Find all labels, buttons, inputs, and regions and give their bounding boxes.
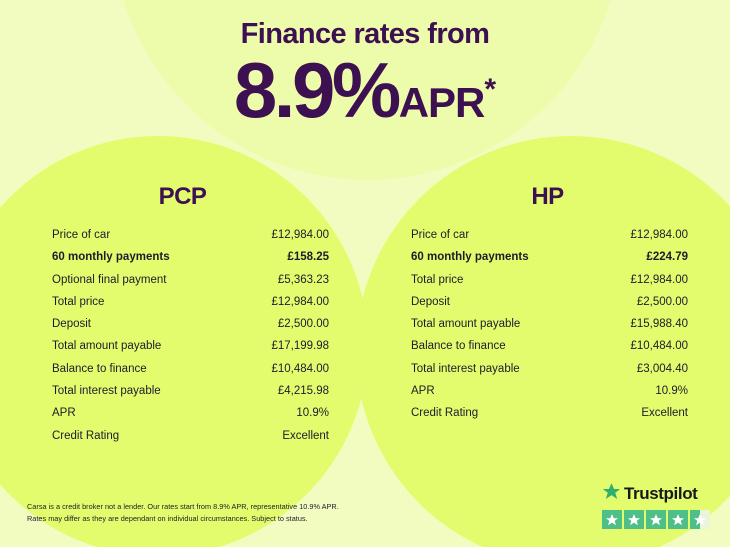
table-row: Credit RatingExcellent	[411, 402, 688, 424]
row-label: Total interest payable	[52, 380, 161, 402]
row-value: £224.79	[646, 246, 688, 268]
row-value: £12,984.00	[271, 291, 329, 313]
trustpilot-star-box	[602, 510, 622, 529]
row-label: Credit Rating	[52, 425, 119, 447]
plan-rows-pcp: Price of car£12,984.0060 monthly payment…	[0, 224, 365, 447]
row-label: Total price	[411, 269, 463, 291]
row-label: APR	[411, 380, 435, 402]
trustpilot-star-box	[690, 510, 710, 529]
table-row: Total amount payable£17,199.98	[52, 335, 329, 357]
row-label: Balance to finance	[52, 358, 147, 380]
star-icon	[627, 513, 641, 527]
table-row: Total price£12,984.00	[411, 269, 688, 291]
trustpilot-star-box	[624, 510, 644, 529]
row-label: Total price	[52, 291, 104, 313]
row-label: Balance to finance	[411, 335, 506, 357]
row-label: 60 monthly payments	[52, 246, 170, 268]
table-row: Total price£12,984.00	[52, 291, 329, 313]
row-label: 60 monthly payments	[411, 246, 529, 268]
table-row: Optional final payment£5,363.23	[52, 269, 329, 291]
row-value: Excellent	[641, 402, 688, 424]
row-label: Price of car	[411, 224, 469, 246]
table-row: Balance to finance£10,484.00	[411, 335, 688, 357]
table-row: Deposit£2,500.00	[411, 291, 688, 313]
plan-column-hp: HP Price of car£12,984.0060 monthly paym…	[365, 183, 730, 447]
star-icon	[605, 513, 619, 527]
star-icon	[649, 513, 663, 527]
trustpilot-star-box	[668, 510, 688, 529]
finance-rates-promo-card: Finance rates from 8.9% APR * PCP Price …	[0, 0, 730, 547]
table-row: 60 monthly payments£224.79	[411, 246, 688, 268]
row-value: £3,004.40	[637, 358, 688, 380]
row-label: APR	[52, 402, 76, 424]
plan-rows-hp: Price of car£12,984.0060 monthly payment…	[365, 224, 730, 425]
headline-rate-row: 8.9% APR *	[0, 53, 730, 127]
legal-disclaimer-line-2: Rates may differ as they are dependant o…	[27, 513, 339, 525]
finance-comparison-tables: PCP Price of car£12,984.0060 monthly pay…	[0, 183, 730, 447]
table-row: Deposit£2,500.00	[52, 313, 329, 335]
row-value: £2,500.00	[278, 313, 329, 335]
table-row: 60 monthly payments£158.25	[52, 246, 329, 268]
row-label: Total interest payable	[411, 358, 520, 380]
legal-disclaimer: Carsa is a credit broker not a lender. O…	[27, 501, 339, 525]
row-value: £10,484.00	[271, 358, 329, 380]
table-row: Price of car£12,984.00	[52, 224, 329, 246]
trustpilot-wordmark: Trustpilot	[624, 484, 697, 504]
row-value: Excellent	[282, 425, 329, 447]
row-value: £10,484.00	[630, 335, 688, 357]
row-value: £158.25	[287, 246, 329, 268]
legal-disclaimer-line-1: Carsa is a credit broker not a lender. O…	[27, 501, 339, 513]
row-value: £12,984.00	[630, 224, 688, 246]
table-row: Total interest payable£4,215.98	[52, 380, 329, 402]
table-row: Price of car£12,984.00	[411, 224, 688, 246]
headline-block: Finance rates from 8.9% APR *	[0, 18, 730, 127]
trustpilot-badge[interactable]: Trustpilot	[602, 482, 714, 529]
star-icon	[671, 513, 685, 527]
row-value: 10.9%	[296, 402, 329, 424]
plan-column-pcp: PCP Price of car£12,984.0060 monthly pay…	[0, 183, 365, 447]
plan-title-pcp: PCP	[0, 183, 365, 211]
row-value: £2,500.00	[637, 291, 688, 313]
row-value: £15,988.40	[630, 313, 688, 335]
row-value: 10.9%	[655, 380, 688, 402]
star-icon	[693, 513, 707, 527]
row-label: Total amount payable	[411, 313, 520, 335]
table-row: Total amount payable£15,988.40	[411, 313, 688, 335]
table-row: APR10.9%	[52, 402, 329, 424]
row-label: Total amount payable	[52, 335, 161, 357]
trustpilot-star-box	[646, 510, 666, 529]
headline-asterisk: *	[484, 75, 496, 105]
row-value: £12,984.00	[630, 269, 688, 291]
trustpilot-brand: Trustpilot	[602, 482, 714, 506]
table-row: Balance to finance£10,484.00	[52, 358, 329, 380]
table-row: Credit RatingExcellent	[52, 425, 329, 447]
headline-rate-unit: APR	[399, 82, 485, 124]
row-label: Credit Rating	[411, 402, 478, 424]
headline-rate-value: 8.9%	[234, 53, 398, 127]
trustpilot-star-icon	[602, 482, 621, 506]
row-value: £5,363.23	[278, 269, 329, 291]
plan-title-hp: HP	[365, 183, 730, 211]
row-value: £12,984.00	[271, 224, 329, 246]
table-row: Total interest payable£3,004.40	[411, 358, 688, 380]
row-label: Price of car	[52, 224, 110, 246]
row-label: Optional final payment	[52, 269, 166, 291]
trustpilot-rating-stars	[602, 510, 714, 529]
table-row: APR10.9%	[411, 380, 688, 402]
row-label: Deposit	[52, 313, 91, 335]
row-value: £17,199.98	[271, 335, 329, 357]
row-value: £4,215.98	[278, 380, 329, 402]
row-label: Deposit	[411, 291, 450, 313]
